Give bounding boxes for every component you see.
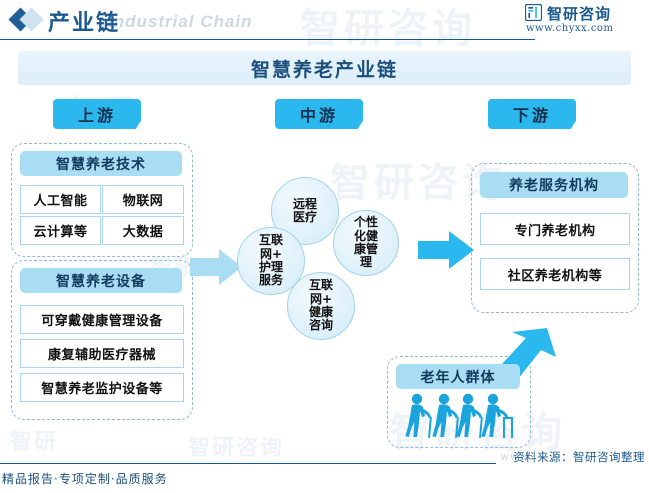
- footer-tagline: 精品报告·专项定制·品质服务: [2, 470, 168, 487]
- stage-chip-upstream[interactable]: 上游: [53, 99, 141, 129]
- circle-internet-consulting[interactable]: 互联网+健康咨询: [287, 272, 355, 340]
- tech-item-cloud[interactable]: 云计算等: [20, 216, 101, 245]
- tech-item-ai[interactable]: 人工智能: [20, 185, 101, 214]
- service-item-specialized[interactable]: 专门养老机构: [480, 213, 630, 245]
- group-header-technology: 智慧养老技术: [20, 151, 182, 176]
- industry-chain-infographic: 智研咨询 智研 智研咨询 智研咨询 智研 智研咨询 智研 智研 Industri…: [0, 0, 649, 493]
- device-item-rehab[interactable]: 康复辅助医疗器械: [20, 339, 184, 368]
- header-divider: [0, 39, 535, 40]
- brand-name: 智研咨询: [547, 3, 611, 24]
- arrow-right-icon-upstream-to-midstream: [190, 247, 242, 287]
- group-header-elderly: 老年人群体: [396, 364, 520, 389]
- group-header-devices: 智慧养老设备: [20, 268, 182, 293]
- chain-title: 智慧养老产业链: [18, 51, 631, 85]
- page-title: 产业链: [48, 5, 120, 37]
- watermark-text: 智研: [10, 424, 58, 456]
- footer-divider: [0, 463, 496, 464]
- page-header: Industrial Chain 产业链 智研咨询 www.chyxx.com: [0, 0, 649, 42]
- stage-chip-midstream[interactable]: 中游: [275, 99, 363, 129]
- device-item-monitor[interactable]: 智慧养老监护设备等: [20, 373, 184, 402]
- tech-item-iot[interactable]: 物联网: [102, 185, 184, 214]
- brand-mark-icon: [525, 4, 542, 21]
- header-subtitle: Industrial Chain: [108, 12, 252, 32]
- service-item-community[interactable]: 社区养老机构等: [480, 258, 630, 290]
- circle-personal-health[interactable]: 个性化健康管理: [333, 210, 399, 276]
- arrow-right-icon-midstream-to-downstream: [418, 229, 474, 271]
- elderly-people-icon: [404, 392, 516, 444]
- diamond-icon: [10, 8, 50, 32]
- brand-logo[interactable]: 智研咨询 www.chyxx.com: [525, 2, 643, 40]
- watermark-text: 智研咨询: [188, 430, 284, 462]
- footer-source-note: 资料来源：智研咨询整理: [513, 449, 645, 465]
- stage-chip-downstream[interactable]: 下游: [488, 99, 576, 129]
- brand-url: www.chyxx.com: [526, 23, 613, 34]
- group-header-service-institutions: 养老服务机构: [480, 172, 628, 198]
- tech-item-bigdata[interactable]: 大数据: [102, 216, 184, 245]
- device-item-wearable[interactable]: 可穿戴健康管理设备: [20, 305, 184, 334]
